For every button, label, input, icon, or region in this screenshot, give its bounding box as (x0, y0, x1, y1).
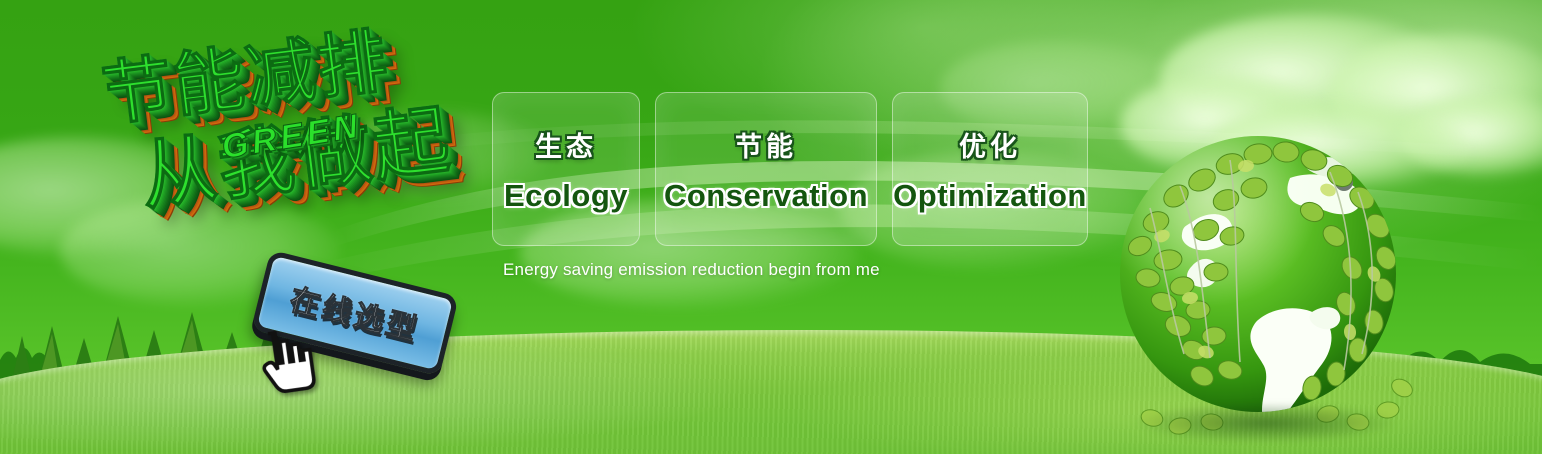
cloud-icon (1160, 14, 1460, 144)
headline-line-2: 从我做起 (136, 93, 519, 218)
card-optimization-en: Optimization (893, 178, 1087, 214)
card-optimization[interactable]: 优化 Optimization (892, 92, 1088, 246)
cloud-icon (1330, 34, 1542, 154)
grass-texture (0, 330, 1542, 454)
online-selection-label: 在线选型 (286, 275, 425, 350)
eco-banner: 节能减排 从我做起 GREEN 在线选型 生态 Ecology 节能 Conse… (0, 0, 1542, 454)
cloud-icon (0, 136, 230, 256)
cloud-icon (1210, 104, 1470, 190)
headline-accent: GREEN (219, 107, 364, 168)
feature-cards: 生态 Ecology 节能 Conservation 优化 Optimizati… (492, 92, 1088, 246)
card-ecology-cn: 生态 (535, 125, 597, 164)
card-conservation-en: Conservation (664, 178, 868, 214)
cloud-icon (1120, 74, 1330, 174)
tagline: Energy saving emission reduction begin f… (503, 260, 880, 280)
card-ecology-en: Ecology (504, 178, 628, 214)
card-conservation-cn: 节能 (735, 125, 797, 164)
card-optimization-cn: 优化 (959, 125, 1021, 164)
grass-field (0, 330, 1542, 454)
card-ecology[interactable]: 生态 Ecology (492, 92, 640, 246)
cloud-icon (1400, 96, 1542, 178)
card-conservation[interactable]: 节能 Conservation (655, 92, 877, 246)
headline-line-1: 节能减排 (98, 9, 508, 132)
